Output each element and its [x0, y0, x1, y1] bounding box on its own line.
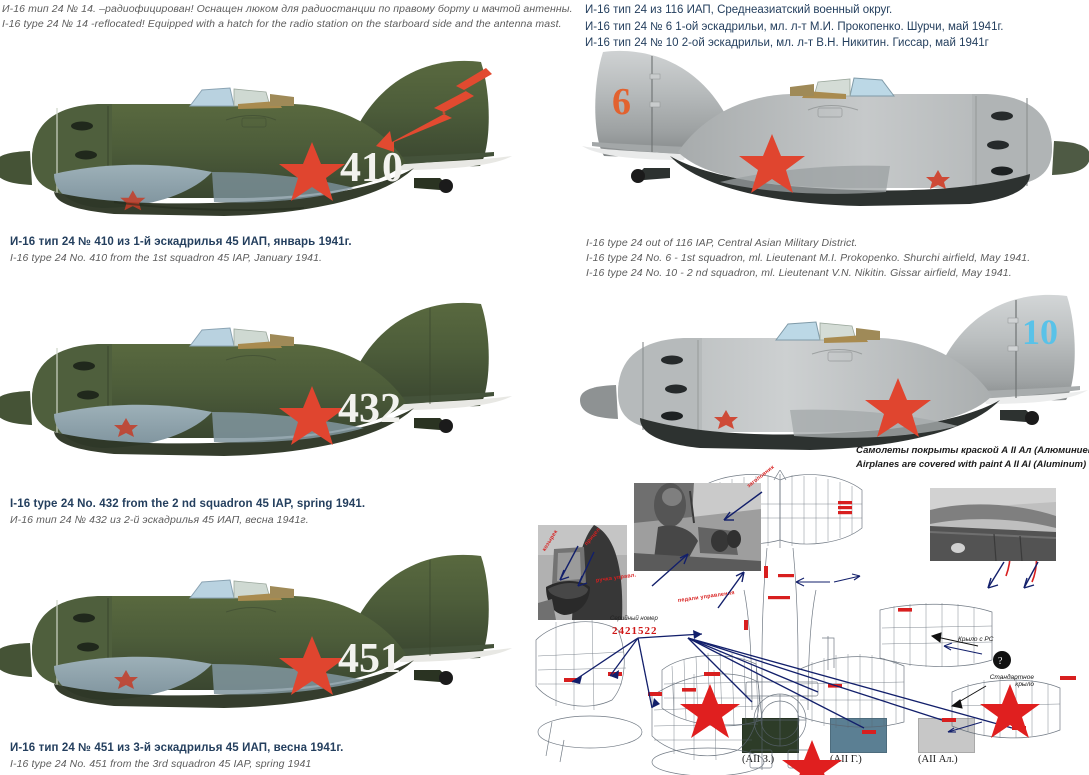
- plan-star-left: [680, 684, 740, 738]
- profile-451-code: 451: [338, 636, 401, 682]
- profile-10-code: 10: [1022, 312, 1058, 352]
- serial-number-caption: Серийный номер: [610, 616, 658, 622]
- caption-116iap: I-16 type 24 out of 116 IAP, Central Asi…: [586, 236, 1030, 282]
- profile-432-code: 432: [338, 386, 401, 432]
- caption-451: И-16 тип 24 № 451 из 3-й эскадрилья 45 И…: [10, 740, 343, 772]
- photo-wing-underside: [930, 488, 1056, 561]
- plan-star-bottom: [782, 740, 842, 775]
- caption-451-ru: И-16 тип 24 № 451 из 3-й эскадрилья 45 И…: [10, 740, 343, 757]
- aircraft-profile-10: 10: [580, 292, 1089, 452]
- photo-cockpit: [634, 483, 761, 571]
- caption-410: И-16 тип 24 № 410 из 1-й эскадрилья 45 И…: [10, 234, 352, 266]
- header-note-right-line1: И-16 тип 24 из 116 ИАП, Среднеазиатский …: [585, 2, 1003, 19]
- profile-6-code: 6: [612, 81, 631, 123]
- caption-116iap-line3: I-16 type 24 No. 10 - 2 nd squadron, ml.…: [586, 266, 1030, 281]
- caption-410-ru: И-16 тип 24 № 410 из 1-й эскадрилья 45 И…: [10, 234, 352, 251]
- caption-432-en: I-16 type 24 No. 432 from the 2 nd squad…: [10, 496, 365, 513]
- aircraft-profile-410: 410: [0, 56, 514, 231]
- serial-number-value: 2421522: [612, 625, 658, 637]
- wing-standard-label: Стандартное крыло: [978, 674, 1034, 688]
- header-note-left-en: I-16 type 24 № 14 -reflocated! Equipped …: [2, 17, 573, 32]
- caption-432-ru: И-16 тип 24 № 432 из 2-й эскадрилья 45 И…: [10, 513, 365, 528]
- svg-text:?: ?: [998, 656, 1003, 667]
- profile-410-code: 410: [340, 145, 403, 191]
- wing-rs-label: Крыло с РС: [958, 636, 993, 643]
- paint-note: Самолеты покрыты краской А II Ал (Алюмин…: [856, 444, 1089, 472]
- decal-sheet: И-16 тип 24 № 14. –радиофицирован! Оснащ…: [0, 0, 1089, 775]
- paint-note-ru: Самолеты покрыты краской А II Ал (Алюмин…: [856, 444, 1089, 458]
- plan-star-right: [980, 684, 1040, 738]
- header-note-right: И-16 тип 24 из 116 ИАП, Среднеазиатский …: [585, 2, 1003, 52]
- aircraft-profile-432: 432: [0, 300, 514, 460]
- caption-116iap-line1: I-16 type 24 out of 116 IAP, Central Asi…: [586, 236, 1030, 251]
- header-note-right-line2: И-16 тип 24 № 6 1-ой эскадрильи, мл. л-т…: [585, 19, 1003, 36]
- caption-432: I-16 type 24 No. 432 from the 2 nd squad…: [10, 496, 365, 528]
- aircraft-profile-6: 6: [580, 46, 1089, 231]
- aircraft-profile-451: 451: [0, 548, 514, 713]
- header-note-left: И-16 тип 24 № 14. –радиофицирован! Оснащ…: [2, 2, 573, 32]
- caption-451-en: I-16 type 24 No. 451 from the 3rd squadr…: [10, 757, 343, 772]
- marking-placement-diagram: ?: [512, 470, 1089, 775]
- header-note-left-ru: И-16 тип 24 № 14. –радиофицирован! Оснащ…: [2, 2, 573, 17]
- caption-410-en: I-16 type 24 No. 410 from the 1st squadr…: [10, 251, 352, 266]
- caption-116iap-line2: I-16 type 24 No. 6 - 1st squadron, ml. L…: [586, 251, 1030, 266]
